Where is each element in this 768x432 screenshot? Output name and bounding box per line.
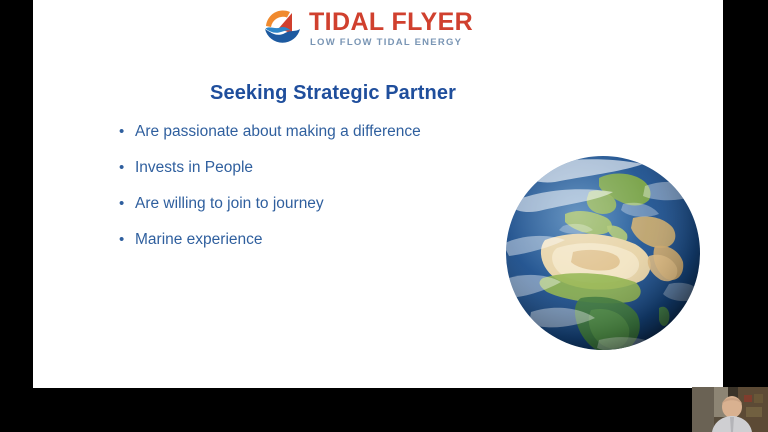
tidal-flyer-logo-icon bbox=[261, 9, 304, 49]
bullet-marker-icon: • bbox=[119, 232, 135, 247]
earth-globe-image bbox=[503, 152, 703, 355]
bullet-text: Invests in People bbox=[135, 160, 253, 176]
list-item: • Invests in People bbox=[119, 160, 549, 196]
brand-logo-text: TIDAL FLYER LOW FLOW TIDAL ENERGY bbox=[309, 10, 473, 48]
bullet-marker-icon: • bbox=[119, 160, 135, 175]
bullet-list: • Are passionate about making a differen… bbox=[119, 124, 549, 268]
list-item: • Marine experience bbox=[119, 232, 549, 268]
presentation-slide: TIDAL FLYER LOW FLOW TIDAL ENERGY Seekin… bbox=[33, 0, 723, 388]
bullet-text: Are passionate about making a difference bbox=[135, 124, 421, 140]
presenter-webcam-thumbnail[interactable] bbox=[692, 387, 768, 432]
brand-logo: TIDAL FLYER LOW FLOW TIDAL ENERGY bbox=[261, 7, 501, 51]
brand-wordmark: TIDAL FLYER bbox=[309, 10, 473, 35]
screen-share-stage: TIDAL FLYER LOW FLOW TIDAL ENERGY Seekin… bbox=[0, 0, 768, 432]
bullet-marker-icon: • bbox=[119, 196, 135, 211]
list-item: • Are willing to join to journey bbox=[119, 196, 549, 232]
brand-tagline: LOW FLOW TIDAL ENERGY bbox=[310, 38, 473, 48]
slide-title: Seeking Strategic Partner bbox=[33, 82, 633, 105]
bullet-text: Marine experience bbox=[135, 232, 263, 248]
bullet-text: Are willing to join to journey bbox=[135, 196, 324, 212]
bullet-marker-icon: • bbox=[119, 124, 135, 139]
list-item: • Are passionate about making a differen… bbox=[119, 124, 549, 160]
